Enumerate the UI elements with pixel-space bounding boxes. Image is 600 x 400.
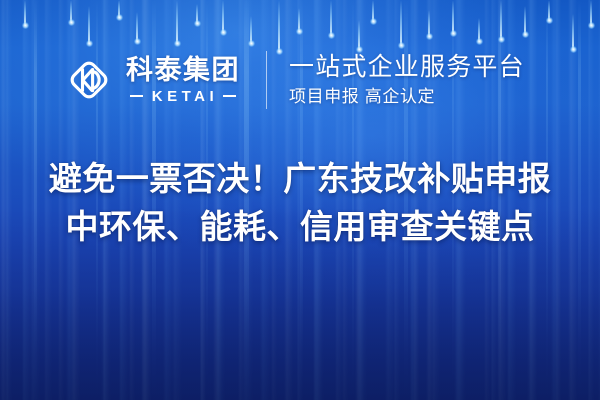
- headline-line-2: 中环保、能耗、信用审查关键点: [24, 203, 576, 251]
- brand-name-en: KETAI: [143, 89, 223, 104]
- meteor-streak-icon: [478, 18, 480, 42]
- meteor-streak-icon: [24, 0, 26, 26]
- meteor-streak-icon: [136, 12, 138, 42]
- meteor-streak-icon: [222, 0, 224, 33]
- meteor-streak-icon: [548, 0, 550, 21]
- wordmark-dash-right: [223, 95, 236, 97]
- meteor-streak-icon: [372, 0, 374, 22]
- tagline-sub: 项目申报 高企认定: [289, 88, 525, 107]
- brand-name-cn: 科泰集团: [126, 57, 240, 84]
- meteor-streak-icon: [572, 14, 574, 50]
- headline-block: 避免一票否决！广东技改补贴申报 中环保、能耗、信用审查关键点: [0, 155, 600, 251]
- meteor-streak-icon: [452, 0, 454, 34]
- tagline-main: 一站式企业服务平台: [289, 53, 525, 81]
- meteor-streak-icon: [428, 10, 430, 37]
- ketai-logo-icon[interactable]: [62, 53, 116, 107]
- meteor-streak-icon: [590, 0, 592, 26]
- meteor-streak-icon: [278, 0, 280, 52]
- meteor-streak-icon: [118, 0, 120, 18]
- meteor-streak-icon: [330, 0, 332, 36]
- promo-banner: 科泰集团 KETAI 一站式企业服务平台 项目申报 高企认定 避免一票否决！广东…: [0, 0, 600, 400]
- header-divider: [266, 51, 267, 109]
- meteor-streak-icon: [250, 16, 252, 44]
- meteor-streak-icon: [196, 4, 198, 24]
- brand-wordmark: 科泰集团 KETAI: [126, 57, 240, 104]
- meteor-streak-icon: [358, 20, 360, 50]
- meteor-streak-icon: [70, 0, 72, 23]
- meteor-streak-icon: [176, 0, 178, 44]
- brand-header: 科泰集团 KETAI 一站式企业服务平台 项目申报 高企认定: [62, 47, 525, 113]
- headline-line-1: 避免一票否决！广东技改补贴申报: [24, 155, 576, 203]
- tagline-block: 一站式企业服务平台 项目申报 高企认定: [289, 53, 525, 107]
- brand-name-en-row: KETAI: [126, 89, 240, 104]
- meteor-streak-icon: [298, 8, 300, 32]
- meteor-streak-icon: [524, 6, 526, 35]
- meteor-streak-icon: [88, 6, 90, 44]
- meteor-streak-icon: [500, 0, 502, 40]
- wordmark-dash-left: [130, 95, 143, 97]
- meteor-streak-icon: [400, 0, 402, 46]
